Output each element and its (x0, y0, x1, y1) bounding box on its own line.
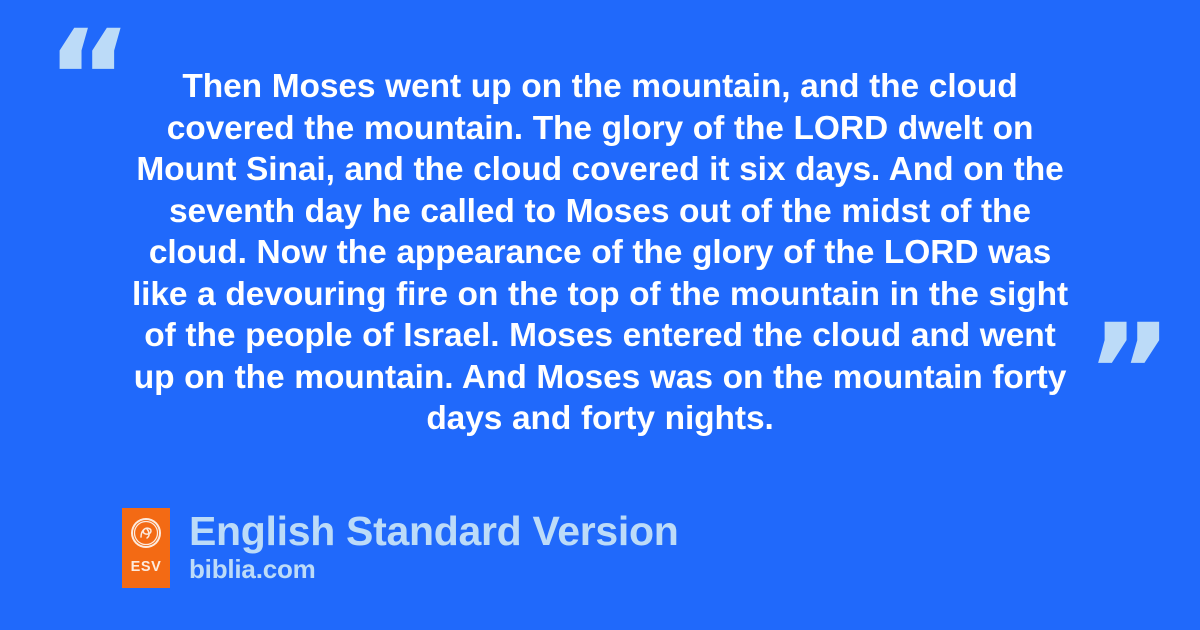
site-url-label: biblia.com (189, 555, 678, 583)
scripture-quote-text: Then Moses went up on the mountain, and … (120, 66, 1080, 440)
esv-logo-tile: ESV (122, 508, 170, 588)
bible-version-name: English Standard Version (189, 509, 678, 553)
attribution-text-group: English Standard Version biblia.com (189, 508, 678, 583)
attribution-footer: ESV English Standard Version biblia.com (122, 508, 678, 588)
opening-quote-icon: “ (46, 13, 131, 145)
closing-quote-icon: ” (1086, 307, 1171, 439)
quote-block: Then Moses went up on the mountain, and … (120, 66, 1080, 440)
quote-card: “ Then Moses went up on the mountain, an… (0, 0, 1200, 630)
esv-logo-abbreviation: ESV (131, 560, 162, 575)
esv-seal-icon (130, 517, 162, 549)
